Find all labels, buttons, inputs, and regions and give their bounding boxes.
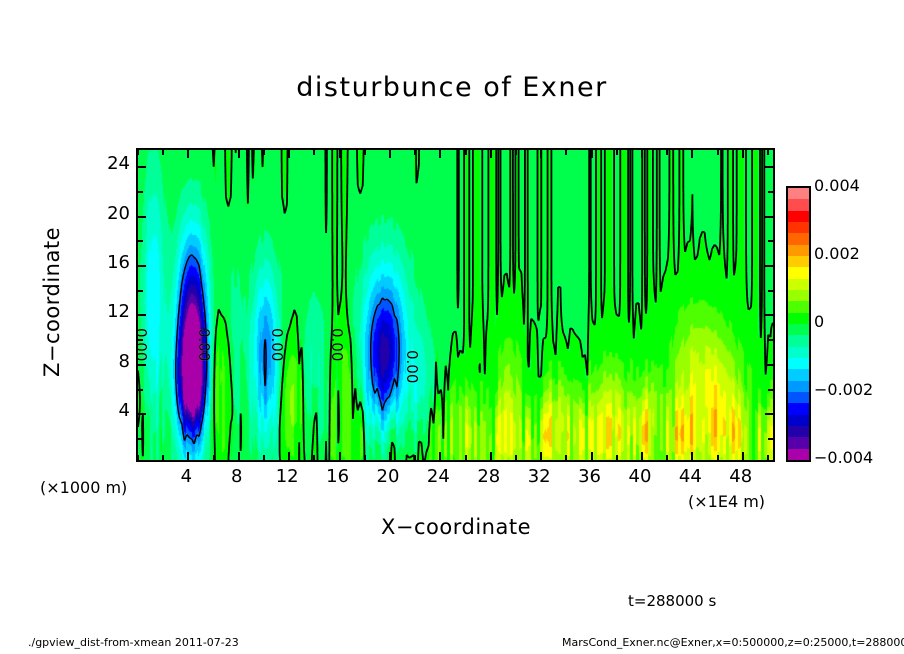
time-annotation: t=288000 s — [628, 592, 716, 610]
y-tick-mark — [138, 438, 143, 440]
x-tick-mark — [162, 455, 164, 460]
x-tick-mark — [439, 452, 441, 460]
colorbar-band-13 — [788, 335, 809, 346]
x-tick-mark — [313, 150, 315, 155]
contour-value-label: 0.00 — [328, 328, 346, 361]
colorbar-label-0: 0.004 — [814, 176, 860, 195]
contour-lines — [138, 150, 773, 460]
colorbar-label-2: 0 — [814, 312, 824, 331]
x-tick-mark — [616, 150, 618, 155]
y-tick-labels: 4812162024 — [62, 148, 130, 462]
y-axis-unit-label: (×1000 m) — [40, 478, 127, 497]
y-tick-mark — [768, 290, 773, 292]
colorbar-band-16 — [788, 369, 809, 380]
colorbar-band-14 — [788, 347, 809, 358]
colorbar-band-20 — [788, 415, 809, 426]
contour-value-label: 0.00 — [136, 328, 150, 361]
contour-line-zero — [138, 150, 773, 460]
y-tick-mark — [768, 339, 773, 341]
colorbar-band-23 — [788, 449, 809, 460]
x-tick-mark — [591, 150, 593, 158]
y-tick-label: 20 — [70, 203, 130, 224]
x-tick-mark — [565, 150, 567, 155]
x-tick-mark — [591, 452, 593, 460]
colorbar-band-21 — [788, 426, 809, 437]
y-tick-mark — [765, 413, 773, 415]
colorbar-band-9 — [788, 290, 809, 301]
contour-value-label: 0.00 — [403, 350, 421, 383]
colorbar-band-0 — [788, 188, 809, 199]
x-tick-mark — [339, 150, 341, 158]
contour-value-label: 0.00 — [195, 328, 213, 361]
x-axis-unit-label: (×1E4 m) — [688, 492, 765, 511]
x-tick-mark — [288, 150, 290, 158]
x-tick-mark — [666, 455, 668, 460]
y-tick-mark — [138, 191, 143, 193]
x-tick-mark — [238, 150, 240, 158]
y-tick-mark — [765, 314, 773, 316]
x-tick-mark — [187, 452, 189, 460]
colorbar-label-1: 0.002 — [814, 244, 860, 263]
x-tick-mark — [414, 455, 416, 460]
y-tick-label: 8 — [70, 351, 130, 372]
page-title: disturbunce of Exner — [0, 72, 904, 103]
y-tick-mark — [138, 290, 143, 292]
x-tick-mark — [439, 150, 441, 158]
y-axis-title: Z−coordinate — [40, 222, 64, 382]
contour-value-label: 0.00 — [268, 328, 286, 361]
x-tick-mark — [515, 455, 517, 460]
x-tick-mark — [465, 150, 467, 155]
y-tick-mark — [138, 240, 143, 242]
x-tick-mark — [717, 455, 719, 460]
y-tick-label: 24 — [70, 153, 130, 174]
x-tick-mark — [313, 455, 315, 460]
x-tick-mark — [641, 452, 643, 460]
x-tick-mark — [137, 455, 139, 460]
x-tick-mark — [137, 150, 139, 155]
y-tick-mark — [138, 413, 146, 415]
x-tick-mark — [162, 150, 164, 155]
x-tick-mark — [364, 455, 366, 460]
colorbar-band-15 — [788, 358, 809, 369]
x-tick-mark — [389, 452, 391, 460]
y-tick-label: 12 — [70, 301, 130, 322]
x-tick-label: 48 — [711, 466, 771, 487]
colorbar-band-18 — [788, 392, 809, 403]
y-tick-mark — [138, 166, 146, 168]
x-tick-mark — [717, 150, 719, 155]
y-tick-mark — [765, 166, 773, 168]
x-tick-mark — [288, 452, 290, 460]
y-tick-mark — [138, 216, 146, 218]
colorbar-band-8 — [788, 279, 809, 290]
x-tick-mark — [238, 452, 240, 460]
colorbar[interactable] — [786, 186, 811, 462]
x-tick-mark — [565, 455, 567, 460]
x-tick-mark — [263, 150, 265, 155]
colorbar-band-2 — [788, 211, 809, 222]
y-tick-mark — [768, 389, 773, 391]
y-tick-mark — [765, 364, 773, 366]
x-tick-mark — [691, 150, 693, 158]
x-tick-mark — [490, 452, 492, 460]
colorbar-band-6 — [788, 256, 809, 267]
colorbar-band-3 — [788, 222, 809, 233]
colorbar-band-5 — [788, 245, 809, 256]
y-tick-mark — [768, 438, 773, 440]
y-tick-mark — [768, 240, 773, 242]
x-axis-title: X−coordinate — [236, 515, 676, 539]
x-tick-mark — [213, 455, 215, 460]
colorbar-band-19 — [788, 403, 809, 414]
y-tick-mark — [138, 265, 146, 267]
y-tick-mark — [138, 314, 146, 316]
x-tick-mark — [515, 150, 517, 155]
colorbar-band-1 — [788, 199, 809, 210]
x-tick-mark — [767, 455, 769, 460]
x-tick-mark — [691, 452, 693, 460]
x-tick-mark — [490, 150, 492, 158]
x-tick-mark — [540, 150, 542, 158]
x-tick-mark — [540, 452, 542, 460]
x-tick-mark — [339, 452, 341, 460]
colorbar-label-3: −0.002 — [814, 380, 873, 399]
x-tick-mark — [666, 150, 668, 155]
x-tick-mark — [465, 455, 467, 460]
x-tick-mark — [641, 150, 643, 158]
x-tick-mark — [616, 455, 618, 460]
colorbar-band-17 — [788, 381, 809, 392]
y-tick-mark — [765, 216, 773, 218]
y-tick-mark — [765, 265, 773, 267]
y-tick-label: 16 — [70, 252, 130, 273]
x-tick-mark — [364, 150, 366, 155]
colorbar-band-4 — [788, 233, 809, 244]
footer-source: MarsCond_Exner.nc@Exner,x=0:500000,z=0:2… — [562, 636, 904, 649]
x-tick-mark — [742, 452, 744, 460]
colorbar-label-4: −0.004 — [814, 448, 873, 467]
x-tick-mark — [414, 150, 416, 155]
colorbar-band-22 — [788, 437, 809, 448]
x-tick-mark — [187, 150, 189, 158]
colorbar-band-7 — [788, 267, 809, 278]
x-tick-mark — [213, 150, 215, 155]
y-tick-label: 4 — [70, 400, 130, 421]
y-tick-mark — [138, 364, 146, 366]
x-tick-mark — [742, 150, 744, 158]
y-tick-mark — [138, 389, 143, 391]
x-tick-mark — [263, 455, 265, 460]
plot-area[interactable]: 0.000.000.000.000.000.000.00 — [136, 148, 775, 462]
y-tick-mark — [768, 191, 773, 193]
footer-command: ./gpview_dist-from-xmean 2011-07-23 — [28, 636, 239, 649]
x-tick-mark — [389, 150, 391, 158]
x-tick-mark — [767, 150, 769, 155]
colorbar-band-10 — [788, 301, 809, 312]
colorbar-band-12 — [788, 324, 809, 335]
colorbar-band-11 — [788, 313, 809, 324]
